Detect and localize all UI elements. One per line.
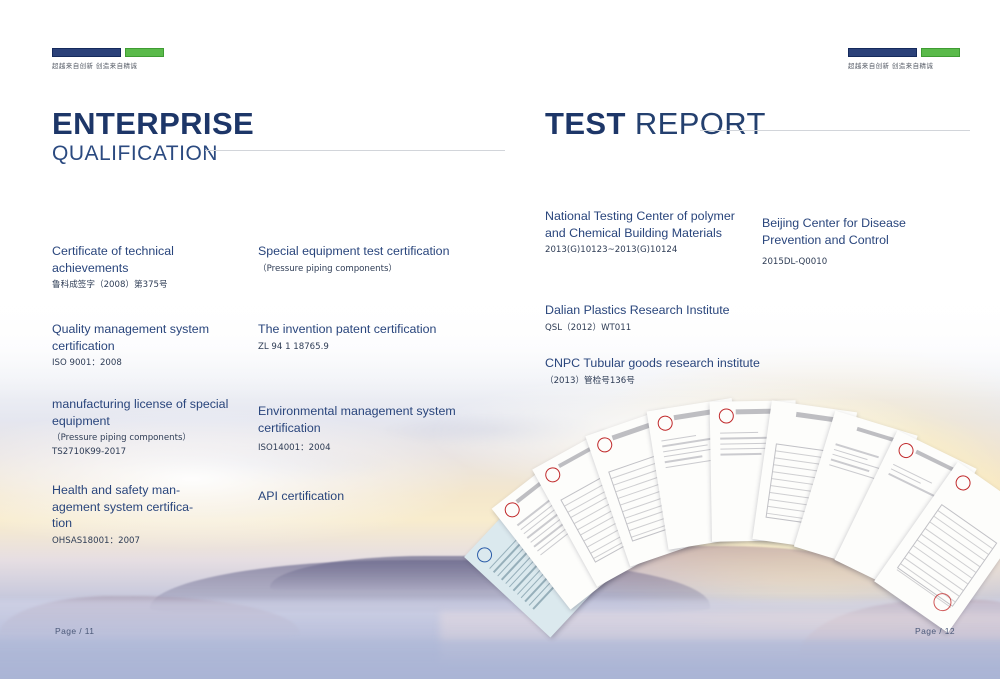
page-number-left: Page / 11 [55, 626, 94, 636]
qualification-item-note: （Pressure piping components） [258, 263, 453, 276]
test-report-item: Beijing Center for Disease Prevention an… [762, 215, 942, 269]
qualification-item-title: manufacturing license of special equipme… [52, 396, 242, 429]
certificate-seal-icon [718, 408, 733, 423]
right-page-title-light: REPORT [635, 106, 766, 141]
qualification-item-title: Health and safety man-agement system cer… [52, 482, 212, 532]
certificates-fan-image [520, 395, 980, 615]
test-report-item-title: Beijing Center for Disease Prevention an… [762, 215, 942, 248]
test-report-item-title: National Testing Center of polymer and C… [545, 208, 735, 241]
qualification-item-title: Quality management system certification [52, 321, 237, 354]
qualification-item-code: ISO 9001：2008 [52, 357, 237, 370]
company-logo-right: 超越来自创新 创造来自精诚 [848, 48, 960, 70]
qualification-item-title: API certification [258, 488, 453, 505]
qualification-item-code: TS2710K99-2017 [52, 446, 242, 459]
logo-slogan: 超越来自创新 创造来自精诚 [52, 60, 164, 70]
qualification-item-note: （Pressure piping components） [52, 432, 242, 445]
brochure-spread: 超越来自创新 创造来自精诚 超越来自创新 创造来自精诚 ENTERPRISE Q… [0, 0, 1000, 679]
logo-blue-bar-icon [848, 48, 917, 57]
left-page-title: ENTERPRISE QUALIFICATION [52, 108, 254, 165]
right-page-title-bold: TEST [545, 106, 626, 141]
test-report-item-code: 2015DL-Q0010 [762, 256, 942, 269]
right-page-title: TEST REPORT [545, 108, 766, 139]
test-report-item: Dalian Plastics Research Institute QSL（2… [545, 302, 775, 335]
qualification-item-title: Certificate of technical achievements [52, 243, 237, 276]
certificate-seal-icon [952, 473, 973, 494]
logo-slogan: 超越来自创新 创造来自精诚 [848, 60, 960, 70]
test-report-item-code: （2013）管检号136号 [545, 375, 805, 388]
test-report-item-title: CNPC Tubular goods research institute [545, 355, 805, 372]
qualification-item-title: Environmental management system certific… [258, 403, 458, 436]
test-report-item-code: 2013(G)10123~2013(G)10124 [545, 244, 735, 257]
left-title-rule [205, 150, 505, 151]
logo-blue-bar-icon [52, 48, 121, 57]
left-page-title-line2: QUALIFICATION [52, 143, 254, 165]
test-report-item: National Testing Center of polymer and C… [545, 208, 735, 257]
test-report-item-code: QSL（2012）WT011 [545, 322, 775, 335]
logo-green-bar-icon [921, 48, 960, 57]
qualification-item: The invention patent certification ZL 94… [258, 321, 453, 354]
qualification-item: Environmental management system certific… [258, 403, 458, 455]
qualification-item: API certification [258, 488, 453, 505]
test-report-item: CNPC Tubular goods research institute （2… [545, 355, 805, 388]
page-number-right: Page / 12 [915, 626, 955, 636]
left-page-title-line1: ENTERPRISE [52, 108, 254, 139]
certificate-seal-icon [656, 415, 673, 432]
certificate-seal-icon [896, 441, 916, 461]
cloud-sea-band-lower [0, 640, 1000, 679]
certificate-seal-icon [474, 544, 495, 565]
qualification-item-code: OHSAS18001：2007 [52, 535, 212, 548]
qualification-item-code: 鲁科成签字（2008）第375号 [52, 279, 237, 292]
qualification-item: Certificate of technical achievements 鲁科… [52, 243, 237, 292]
qualification-item-code: ZL 94 1 18765.9 [258, 341, 453, 354]
qualification-item: Health and safety man-agement system cer… [52, 482, 212, 548]
company-logo-left: 超越来自创新 创造来自精诚 [52, 48, 164, 70]
logo-green-bar-icon [125, 48, 164, 57]
logo-bars [848, 48, 960, 57]
certificate-seal-icon [502, 500, 523, 521]
qualification-item-title: The invention patent certification [258, 321, 453, 338]
right-title-rule [700, 130, 970, 131]
qualification-item: manufacturing license of special equipme… [52, 396, 242, 459]
qualification-item: Quality management system certification … [52, 321, 237, 370]
qualification-item-code: ISO14001：2004 [258, 442, 458, 455]
qualification-item-title: Special equipment test certification [258, 243, 453, 260]
logo-bars [52, 48, 164, 57]
right-page-title-line: TEST REPORT [545, 108, 766, 139]
qualification-item: Special equipment test certification （Pr… [258, 243, 453, 276]
test-report-item-title: Dalian Plastics Research Institute [545, 302, 775, 319]
